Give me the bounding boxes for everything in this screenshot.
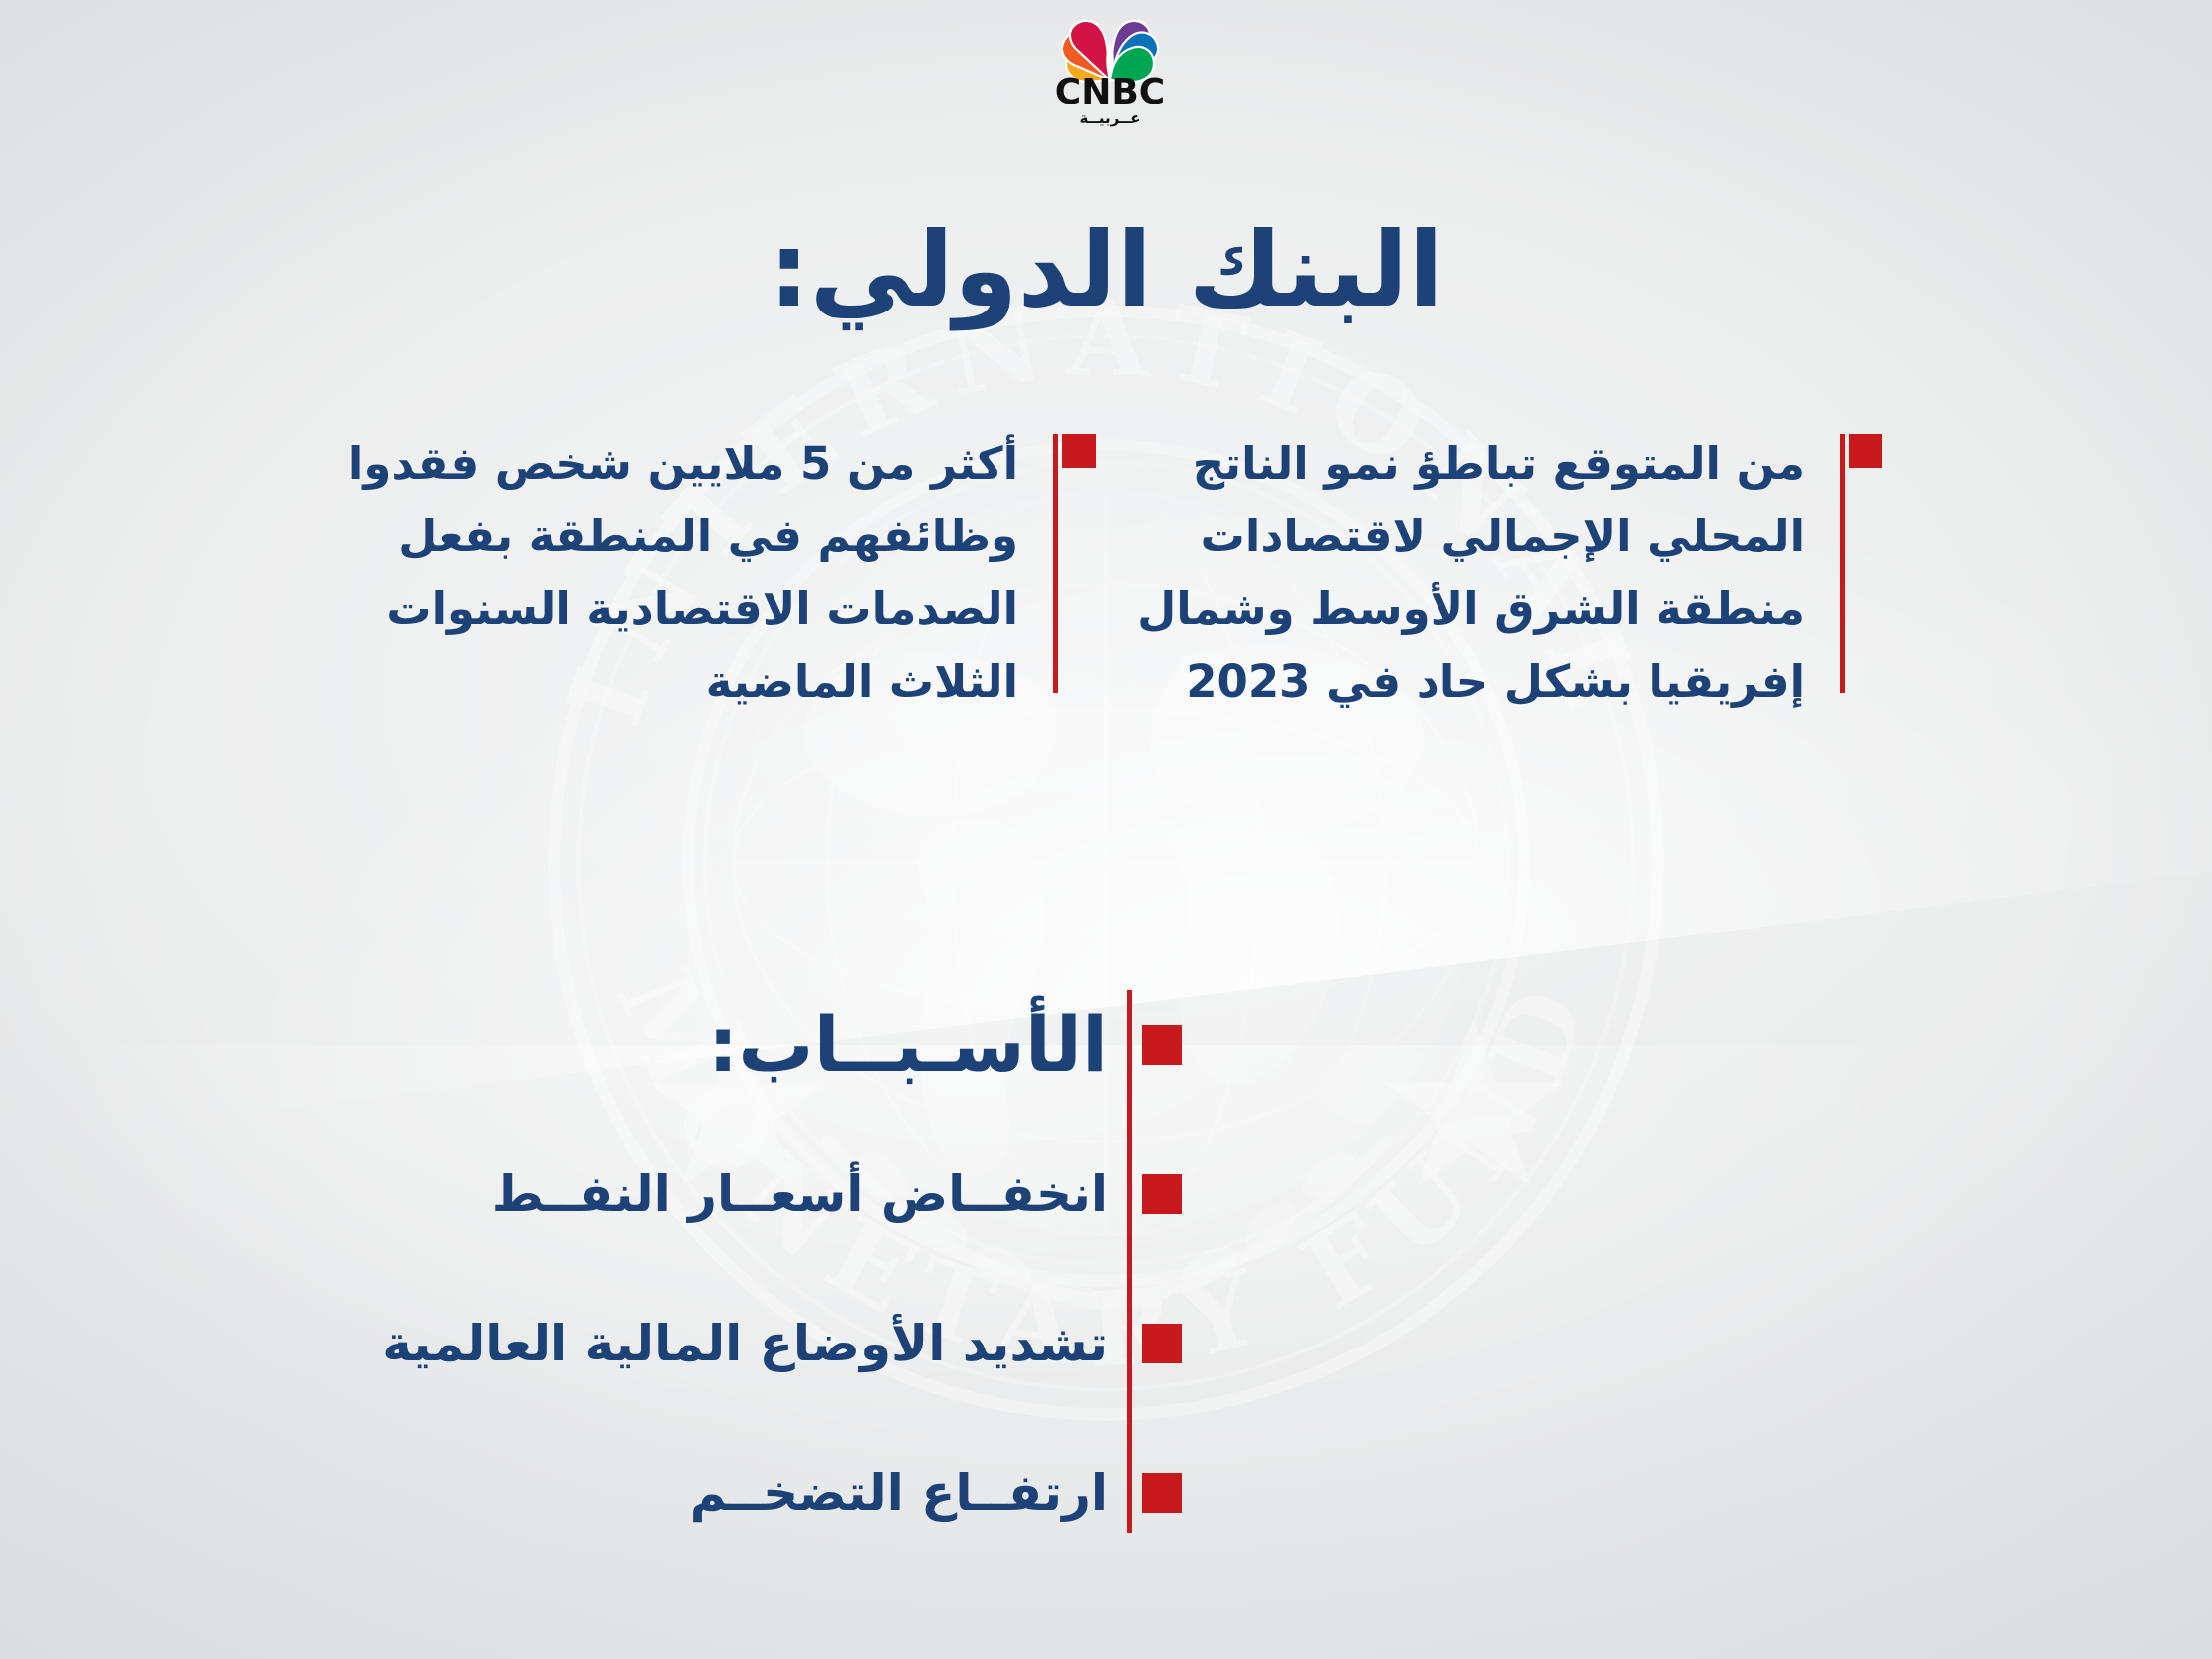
reason-item-oil-prices: انخفــاض أسعــار النفــط [0, 1120, 2212, 1269]
reason-item-global-financial-tightening: تشديد الأوضاع المالية العالمية [0, 1269, 2212, 1418]
fact-gdp-slowdown: من المتوقع تباطؤ نمو الناتج المحلي الإجم… [1106, 428, 2042, 719]
fact-text: أكثر من 5 ملايين شخص فقدوا وظائفهم في ال… [310, 428, 1018, 719]
red-square-bullet-icon [1849, 434, 1882, 468]
infographic-canvas: INTERNATIONAL MONETARY FUND [0, 0, 2212, 1659]
red-square-bullet-icon [1142, 1473, 1182, 1513]
reason-item-inflation: ارتفــاع التضخــم [0, 1418, 2212, 1567]
red-square-bullet-icon [1142, 1025, 1182, 1065]
fact-job-losses: أكثر من 5 ملايين شخص فقدوا وظائفهم في ال… [170, 428, 1106, 719]
facts-row: من المتوقع تباطؤ نمو الناتج المحلي الإجم… [0, 428, 2212, 719]
fact-bullet-rail [1829, 428, 1882, 719]
reason-label: انخفــاض أسعــار النفــط [492, 1164, 1108, 1224]
red-square-bullet-icon [1062, 434, 1096, 468]
reason-label: ارتفــاع التضخــم [690, 1463, 1108, 1523]
red-square-bullet-icon [1142, 1174, 1182, 1214]
cnbc-arabia-logo: CNBC عــربيــة [1015, 12, 1205, 129]
reasons-section: الأسـبــاب: انخفــاض أسعــار النفــط تشد… [0, 970, 2212, 1567]
fact-bullet-rail [1042, 428, 1096, 719]
cnbc-wordmark: CNBC [1055, 72, 1165, 112]
cnbc-arabic-wordmark: عــربيــة [1080, 109, 1141, 127]
red-square-bullet-icon [1142, 1324, 1182, 1363]
fact-text: من المتوقع تباطؤ نمو الناتج المحلي الإجم… [1136, 428, 1805, 719]
page-title: البنك الدولي: [0, 213, 2212, 326]
reasons-heading: الأسـبــاب: [708, 999, 1108, 1090]
reasons-heading-row: الأسـبــاب: [0, 970, 2212, 1120]
reason-label: تشديد الأوضاع المالية العالمية [382, 1314, 1108, 1373]
divider-line [1053, 434, 1058, 693]
divider-line [1840, 434, 1845, 693]
